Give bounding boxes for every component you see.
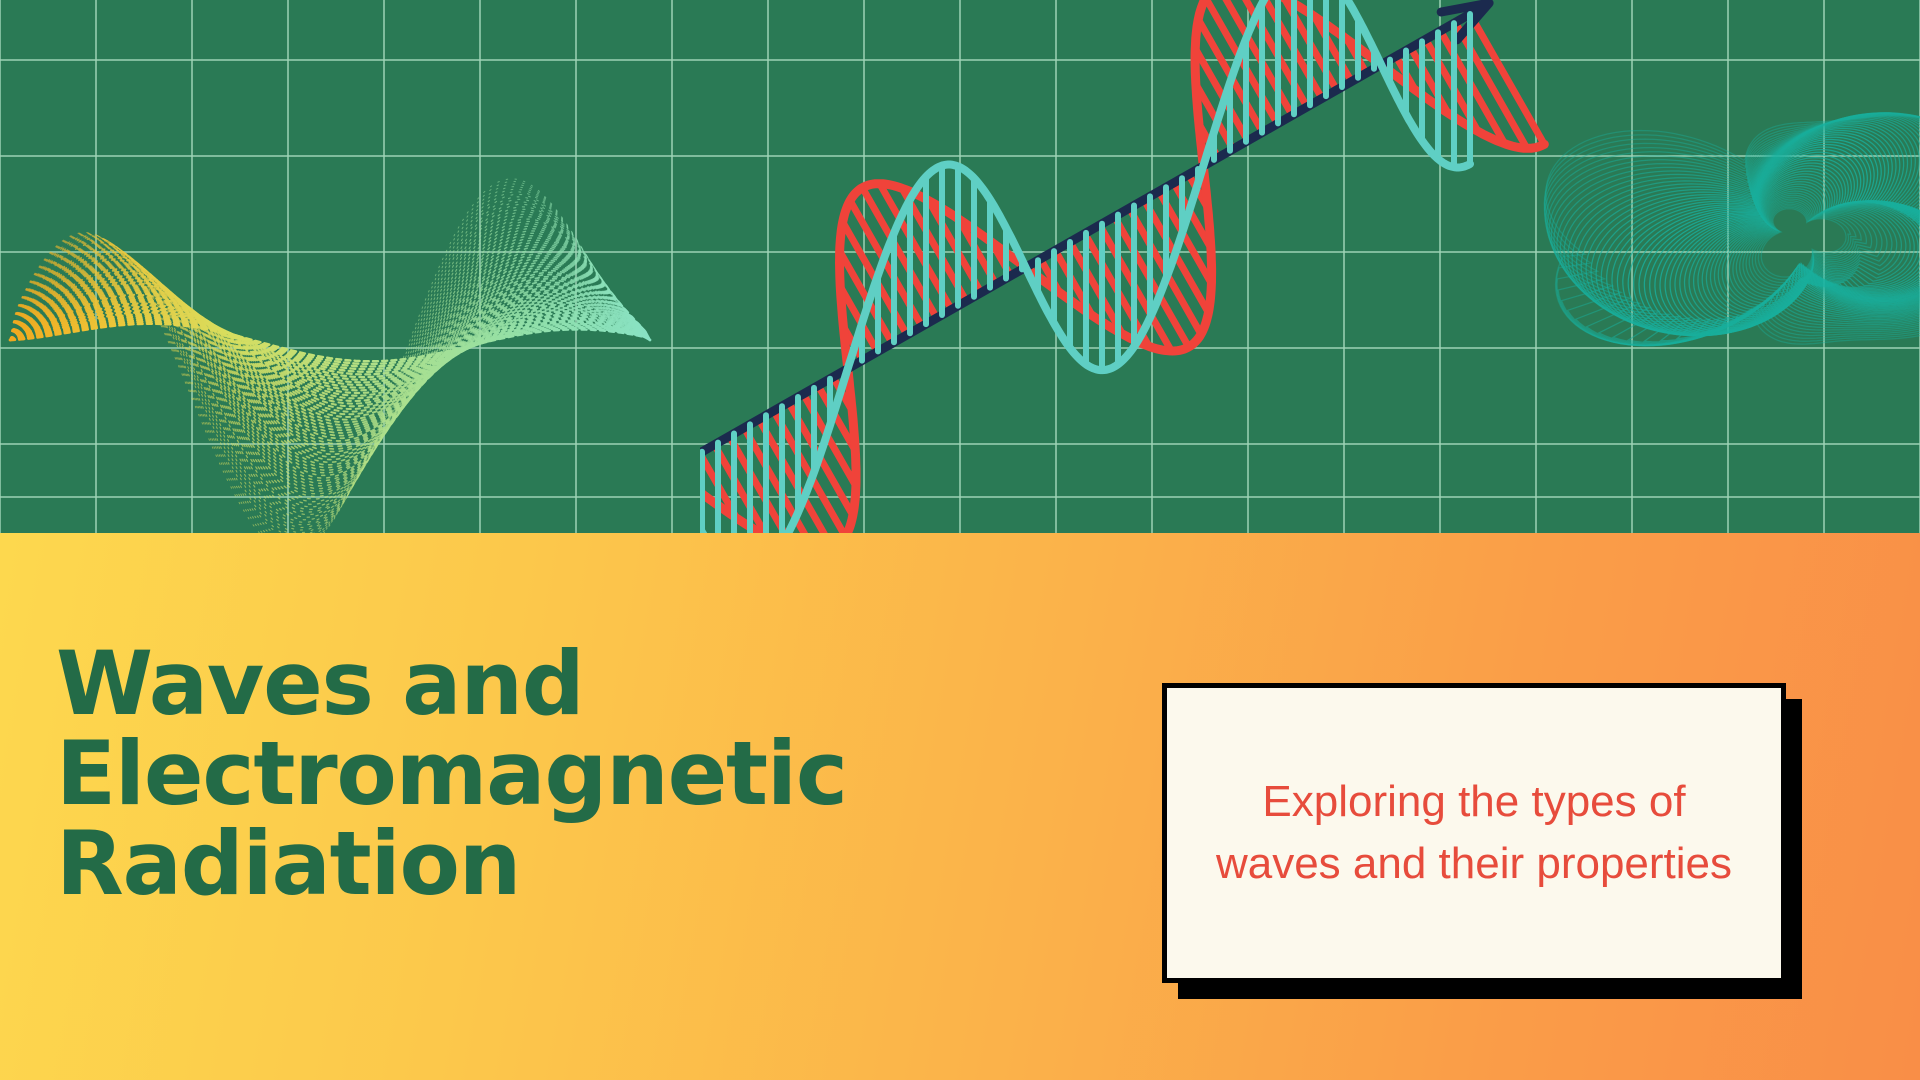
subtitle-card: Exploring the types of waves and their p… (1162, 683, 1786, 983)
slide-canvas: Waves and Electromagnetic Radiation Expl… (0, 0, 1920, 1080)
subtitle-card-wrapper: Exploring the types of waves and their p… (1162, 683, 1802, 999)
interference-rosette-illustration (1420, 0, 1920, 533)
dashed-sine-wave-field-illustration (0, 0, 720, 533)
page-title: Waves and Electromagnetic Radiation (56, 639, 1066, 908)
hero-graphic-band (0, 0, 1920, 533)
subtitle-text: Exploring the types of waves and their p… (1167, 771, 1781, 896)
